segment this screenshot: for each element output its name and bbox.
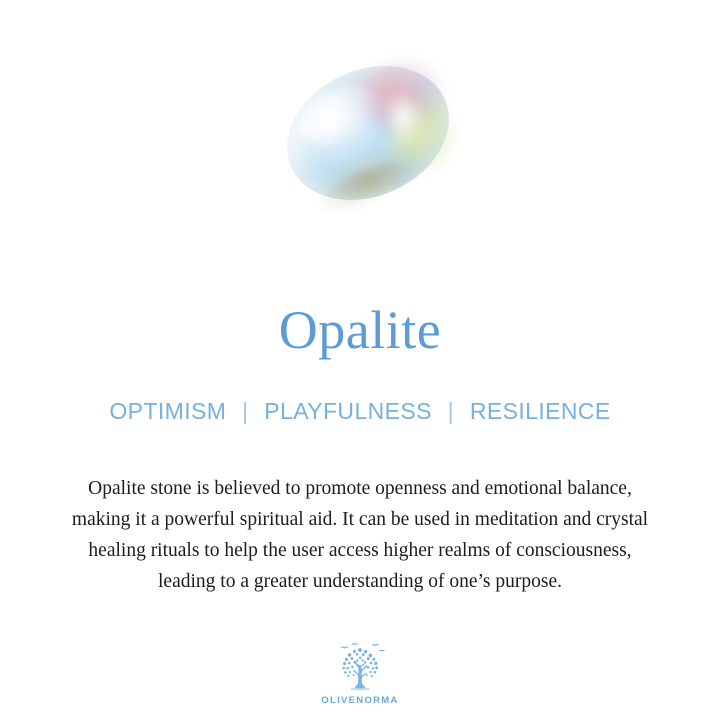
opalite-info-card: Opalite OPTIMISM | PLAYFULNESS | RESILIE… (0, 0, 720, 720)
description-line: healing rituals to help the user access … (0, 535, 720, 566)
tagline-item-resilience: RESILIENCE (470, 398, 611, 424)
hero-image-area (0, 58, 720, 218)
stone-edge-light (266, 41, 471, 224)
brand-lockup: OLIVENORMA (0, 638, 720, 706)
tagline-item-optimism: OPTIMISM (109, 398, 226, 424)
opalite-stone-image (266, 41, 471, 224)
description-line: making it a powerful spiritual aid. It c… (0, 504, 720, 535)
description-line: leading to a greater understanding of on… (0, 566, 720, 597)
tagline-separator: | (233, 398, 257, 424)
attribute-tagline: OPTIMISM | PLAYFULNESS | RESILIENCE (0, 400, 720, 423)
page-title: Opalite (0, 303, 720, 357)
description-text: Opalite stone is believed to promote ope… (0, 473, 720, 597)
brand-name: OLIVENORMA (321, 695, 398, 706)
tagline-item-playfulness: PLAYFULNESS (264, 398, 432, 424)
tagline-separator: | (439, 398, 463, 424)
description-line: Opalite stone is believed to promote ope… (0, 473, 720, 504)
tree-of-life-icon (327, 638, 393, 694)
